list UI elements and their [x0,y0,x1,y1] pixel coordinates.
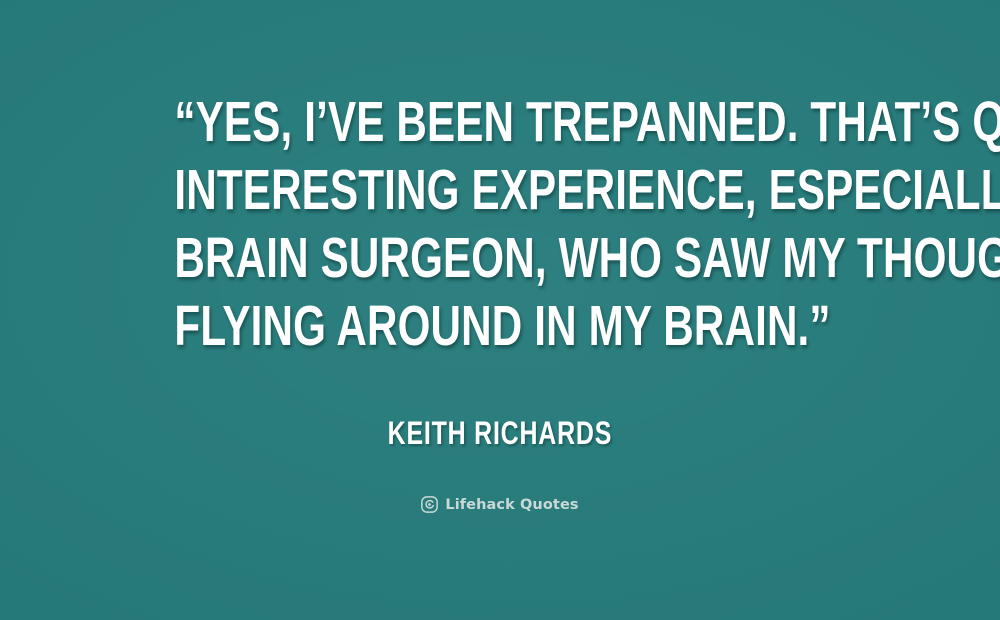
quote-line: “YES, I’VE BEEN TREPANNED. THAT’S QUITE … [174,88,825,156]
quote-line: INTERESTING EXPERIENCE, ESPECIALLY FOR M… [174,156,825,224]
quote-author: KEITH RICHARDS [388,414,612,452]
brand-name: Lifehack Quotes [445,497,578,513]
quote-text-block: “YES, I’VE BEEN TREPANNED. THAT’S QUITE … [60,88,940,360]
lifehack-circle-logo-icon [421,496,438,513]
quote-line: BRAIN SURGEON, WHO SAW MY THOUGHTS [174,224,825,292]
quote-card: “YES, I’VE BEEN TREPANNED. THAT’S QUITE … [0,0,1000,620]
brand-footer: Lifehack Quotes [421,496,578,513]
quote-line: FLYING AROUND IN MY BRAIN.” [174,292,825,360]
